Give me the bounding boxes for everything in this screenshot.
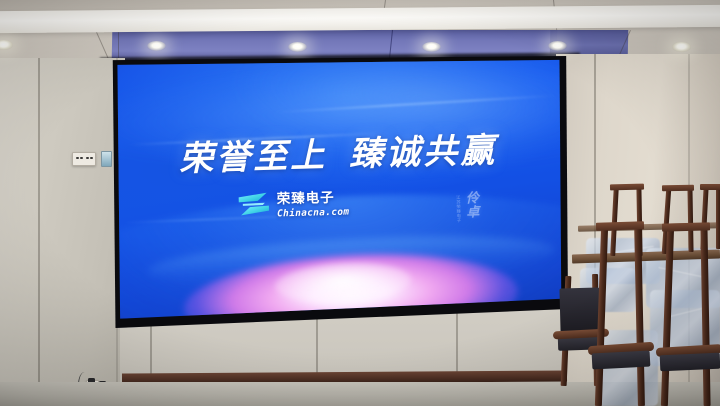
power-socket-upper[interactable] [72, 152, 96, 166]
screen-seal: 江苏荣臻电子 伶卓 [455, 191, 477, 223]
data-port-upper[interactable] [101, 151, 112, 167]
headline-left: 荣誉至上 [179, 135, 328, 179]
screen-light-streak [275, 95, 555, 113]
logo-company-name-cn: 荣臻电子 [276, 191, 349, 206]
screen-headline: 荣誉至上臻诚共赢 [112, 121, 564, 183]
ceiling-downlight [288, 42, 307, 52]
ceiling-light-strip [0, 5, 720, 34]
ceiling-seam [95, 30, 109, 60]
ceiling-downlight [147, 41, 166, 51]
arrow-swoosh-icon [236, 190, 271, 222]
ceiling-downlight [548, 41, 567, 51]
company-logo: 荣臻电子 Chinacna.com [236, 188, 349, 222]
seal-main-text: 伶卓 [463, 191, 477, 219]
wall-left [0, 58, 125, 406]
wall-panel-seam [38, 58, 40, 406]
ceiling-seam [118, 30, 119, 60]
led-screen[interactable]: 荣誉至上臻诚共赢 荣臻 [112, 58, 564, 324]
conference-room-photo: 荣誉至上臻诚共赢 荣臻 [0, 0, 720, 406]
headline-right: 臻诚共赢 [349, 131, 498, 175]
ceiling-downlight [422, 42, 441, 52]
logo-company-url: Chinacna.com [277, 207, 349, 218]
seal-side-text: 江苏荣臻电子 [455, 195, 460, 223]
ceiling-downlight [672, 42, 691, 52]
